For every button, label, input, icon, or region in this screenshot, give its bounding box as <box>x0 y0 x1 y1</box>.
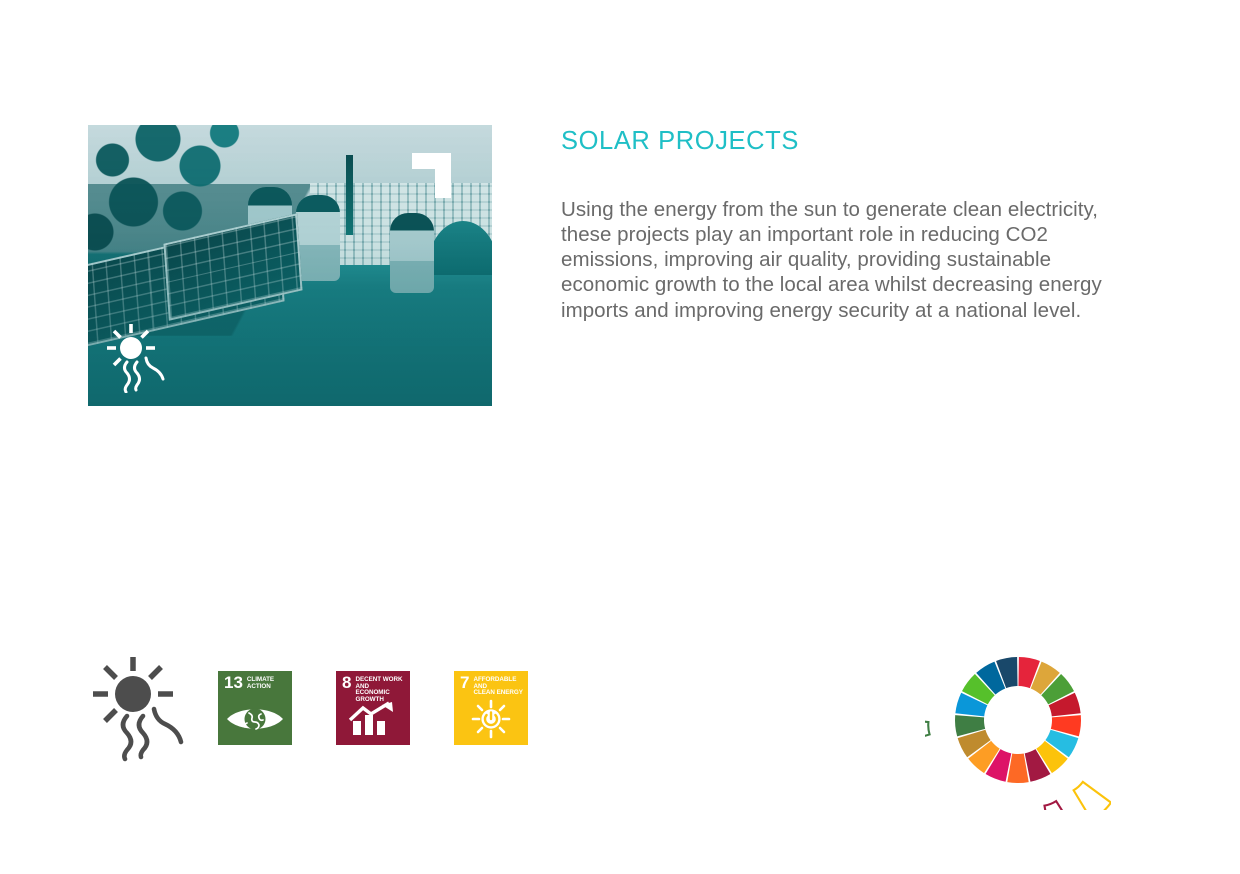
wheel-callout-8 <box>1044 801 1074 810</box>
globe-eye-icon <box>218 699 292 739</box>
sdg-label-line2: CLEAN ENERGY <box>473 689 522 696</box>
sdg-badge-heading: 13 CLIMATE ACTION <box>224 676 288 690</box>
body-paragraph: Using the energy from the sun to generat… <box>561 197 1106 323</box>
corner-bracket-icon <box>412 153 451 198</box>
solar-project-photo <box>88 125 492 406</box>
solar-projects-copy: SOLAR PROJECTS Using the energy from the… <box>561 126 1106 323</box>
wheel-callout-13 <box>925 718 930 744</box>
sdg-badge-heading: 7 AFFORDABLE AND CLEAN ENERGY <box>460 676 524 697</box>
sun-power-icon <box>454 699 528 739</box>
wheel-segment-9 <box>1007 754 1028 783</box>
sdg-badge-7[interactable]: 7 AFFORDABLE AND CLEAN ENERGY <box>454 671 528 745</box>
page-title: SOLAR PROJECTS <box>561 126 1106 157</box>
sdg-badge-13[interactable]: 13 CLIMATE ACTION <box>218 671 292 745</box>
sun-icon <box>88 652 192 764</box>
bar-chart-arrow-icon <box>336 699 410 739</box>
sdg-label: AFFORDABLE AND CLEAN ENERGY <box>473 676 524 697</box>
wheel-callout-7 <box>1074 782 1111 810</box>
sdg-badge-row: 13 CLIMATE ACTION 8 DECENT WORK AND ECON… <box>88 648 528 768</box>
sdg-number: 13 <box>224 676 243 689</box>
sdg-label: CLIMATE ACTION <box>247 676 274 690</box>
sdg-number: 7 <box>460 676 469 689</box>
sdg-number: 8 <box>342 676 351 689</box>
sdg-label-line1: DECENT WORK AND <box>355 676 402 690</box>
sun-icon <box>104 321 170 393</box>
sdg-badge-8[interactable]: 8 DECENT WORK AND ECONOMIC GROWTH <box>336 671 410 745</box>
sdg-colour-wheel <box>925 650 1111 810</box>
sdg-label-line2: ACTION <box>247 683 271 690</box>
sdg-label-line1: AFFORDABLE AND <box>473 676 516 690</box>
